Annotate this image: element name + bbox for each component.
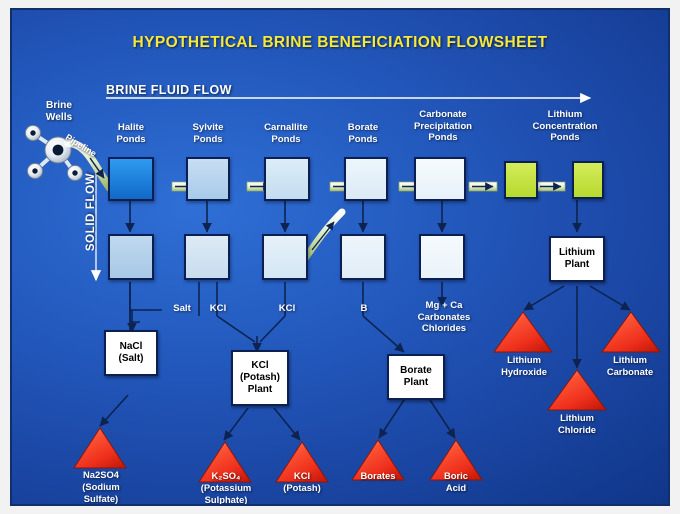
stage-to-plant-connectors bbox=[130, 282, 442, 352]
stream-label-kcl-2: KCl bbox=[267, 303, 307, 315]
product-label-kcl-potash: KCl (Potash) bbox=[265, 470, 339, 494]
product-label-boric-acid: Boric Acid bbox=[426, 470, 486, 494]
product-label-na2so4: Na2SO4 (Sodium Sulfate) bbox=[62, 469, 140, 504]
pond-box-borate[interactable] bbox=[344, 157, 388, 201]
pond-box-halite[interactable] bbox=[108, 157, 154, 201]
product-label-lithium-chloride: Lithium Chloride bbox=[541, 412, 613, 436]
stage-box-sylvite[interactable] bbox=[184, 234, 230, 280]
pond-label-borate: Borate Ponds bbox=[332, 122, 394, 145]
pond-label-carnallite: Carnallite Ponds bbox=[251, 122, 321, 145]
stream-label-mg-ca: Mg + Ca Carbonates Chlorides bbox=[404, 300, 484, 335]
stage-box-borate[interactable] bbox=[340, 234, 386, 280]
pond-box-carnallite[interactable] bbox=[264, 157, 310, 201]
stream-label-b: B bbox=[349, 303, 379, 315]
stream-label-kcl-1: KCl bbox=[198, 303, 238, 315]
solid-flow-label: SOLID FLOW bbox=[85, 169, 97, 255]
product-label-lithium-hydroxide: Lithium Hydroxide bbox=[485, 354, 563, 378]
brine-wells-cluster bbox=[25, 125, 82, 180]
plant-box-kcl-potash[interactable]: KCl (Potash) Plant bbox=[231, 350, 289, 406]
pond-box-lithium-concentration-2[interactable] bbox=[572, 161, 604, 199]
pond-box-carbonate-precipitation[interactable] bbox=[414, 157, 466, 201]
product-label-lithium-carbonate: Lithium Carbonate bbox=[593, 354, 667, 378]
product-triangles bbox=[74, 312, 660, 482]
pond-to-stage-connectors bbox=[130, 200, 577, 232]
plant-box-lithium[interactable]: Lithium Plant bbox=[549, 236, 605, 282]
brine-wells-label: Brine Wells bbox=[20, 100, 98, 124]
pond-label-carbonate-precipitation: Carbonate Precipitation Ponds bbox=[404, 109, 482, 144]
brine-fluid-flow-label: BRINE FLUID FLOW bbox=[106, 83, 232, 97]
pond-label-sylvite: Sylvite Ponds bbox=[174, 122, 242, 145]
pond-label-halite: Halite Ponds bbox=[97, 122, 165, 145]
pond-box-sylvite[interactable] bbox=[186, 157, 230, 201]
product-label-borates: Borates bbox=[347, 470, 409, 482]
slide-frame: HYPOTHETICAL BRINE BENEFICIATION FLOWSHE… bbox=[0, 0, 680, 514]
pond-label-lithium-concentration: Lithium Concentration Ponds bbox=[522, 109, 608, 144]
stage-box-carnallite[interactable] bbox=[262, 234, 308, 280]
pond-box-lithium-concentration-1[interactable] bbox=[504, 161, 538, 199]
product-label-k2so4: K₂SO₄ (Potassium Sulphate) bbox=[184, 470, 268, 505]
stage-box-carbonate[interactable] bbox=[419, 234, 465, 280]
diagram-canvas: HYPOTHETICAL BRINE BENEFICIATION FLOWSHE… bbox=[10, 8, 670, 506]
stage-box-halite[interactable] bbox=[108, 234, 154, 280]
plant-box-nacl[interactable]: NaCl (Salt) bbox=[104, 330, 158, 376]
plant-box-borate[interactable]: Borate Plant bbox=[387, 354, 445, 400]
recycle-pipeline bbox=[304, 212, 342, 260]
